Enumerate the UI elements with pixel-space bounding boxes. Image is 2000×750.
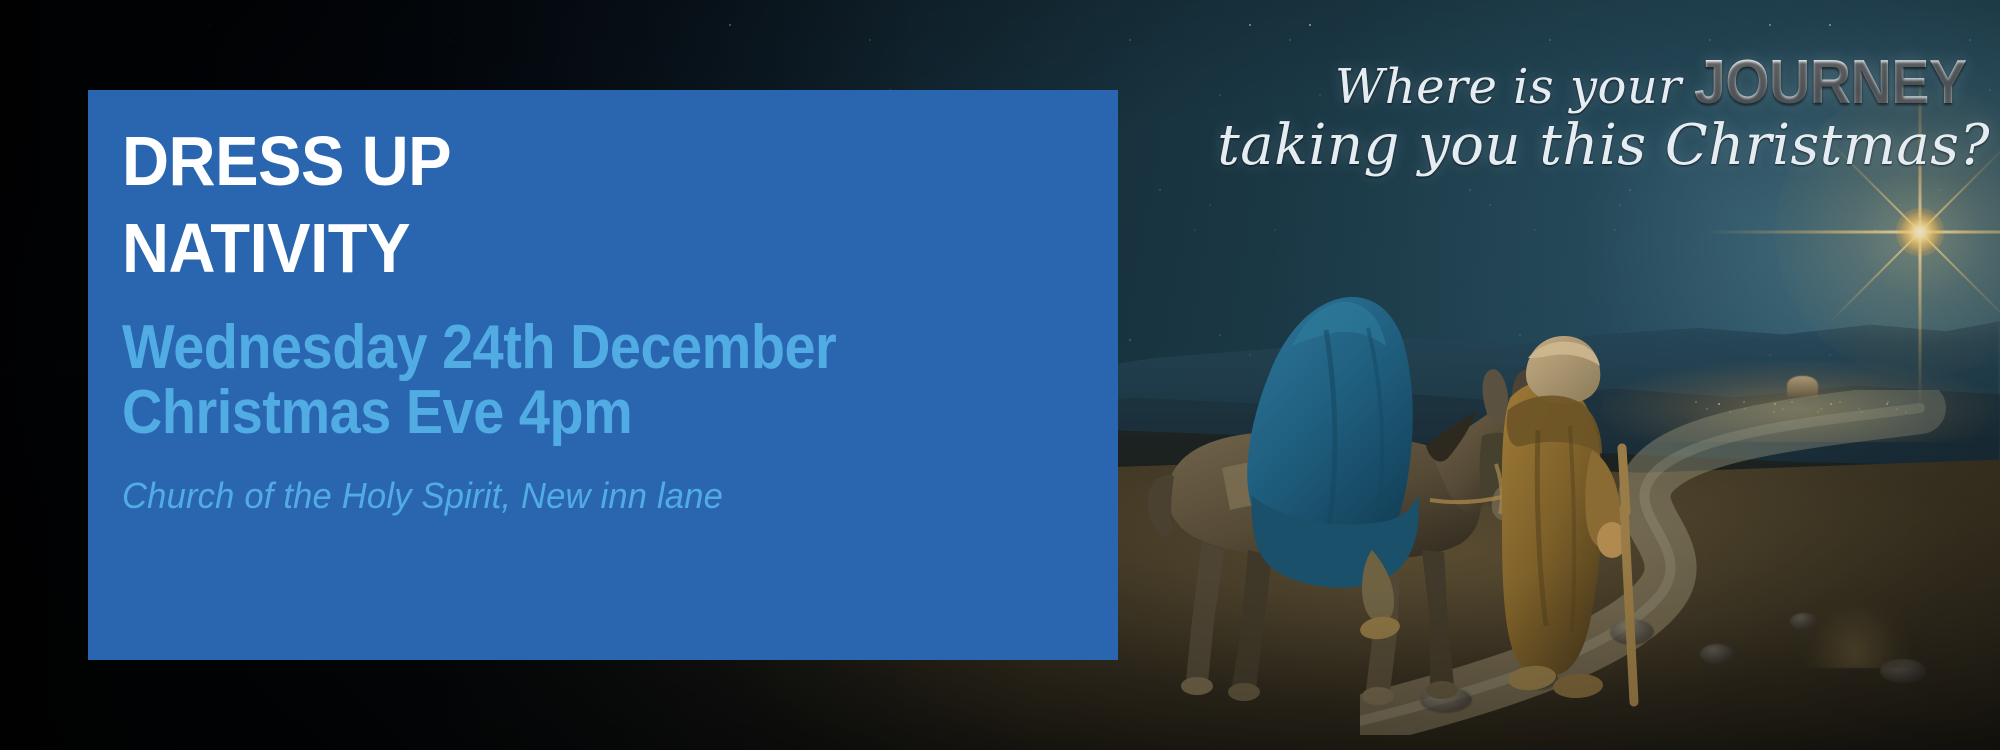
event-date: Wednesday 24th December — [122, 313, 836, 382]
headline-line-1: Where is yourJOURNEY — [1190, 52, 1990, 114]
nativity-event-banner: Where is yourJOURNEY taking you this Chr… — [0, 0, 2000, 750]
title-line-1: DRESS UP — [122, 122, 451, 200]
title-line-2: NATIVITY — [122, 213, 1048, 284]
headline-line-2: taking you this Christmas? — [1190, 118, 1990, 174]
headline-block: Where is yourJOURNEY taking you this Chr… — [1190, 52, 1990, 212]
event-venue: Church of the Holy Spirit, New inn lane — [122, 475, 1078, 517]
headline-journey-word: JOURNEY — [1694, 52, 1967, 114]
event-info-panel: DRESS UP NATIVITY Wednesday 24th Decembe… — [88, 90, 1118, 660]
event-time: Christmas Eve 4pm — [122, 380, 1018, 445]
headline-script-part1: Where is your — [1335, 59, 1682, 115]
event-datetime: Wednesday 24th December Christmas Eve 4p… — [122, 315, 1018, 445]
page-title: DRESS UP NATIVITY — [122, 126, 1048, 285]
headline-script-part3: taking you this Christmas? — [1217, 113, 1990, 178]
